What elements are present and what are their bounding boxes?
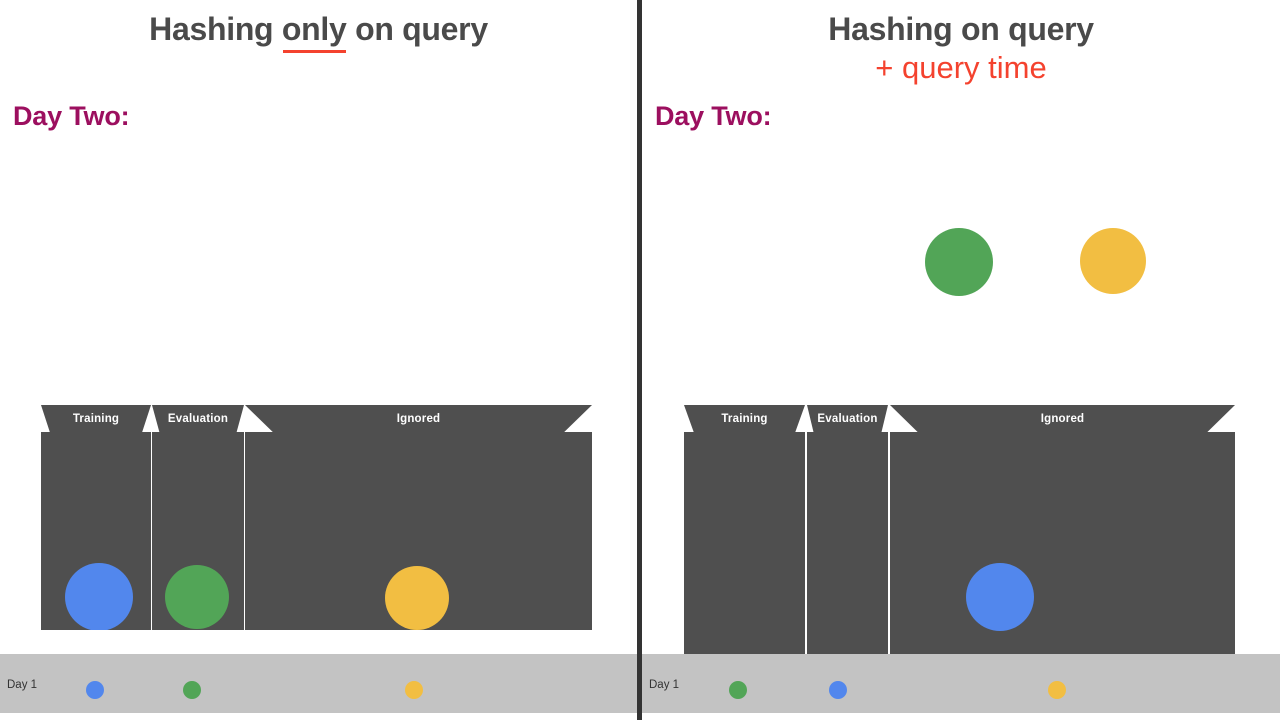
right-bin-body-ignored [890, 432, 1235, 658]
right-bin-body-evaluation [807, 432, 888, 658]
left-timeline-day-label: Day 1 [7, 679, 37, 691]
left-bin-training-ball-0 [65, 563, 133, 630]
right-floating-ball-1 [1080, 228, 1146, 294]
right-floating-ball-0 [925, 228, 993, 296]
left-bin-tab-training: Training [41, 405, 151, 432]
left-bin-body-evaluation [152, 432, 244, 630]
right-bin-ignored[interactable]: Ignored [890, 405, 1235, 658]
right-bin-ignored-ball-0 [966, 563, 1034, 631]
left-bin-tab-evaluation: Evaluation [152, 405, 244, 432]
right-bin-tab-ignored: Ignored [890, 405, 1235, 432]
left-bin-ignored[interactable]: Ignored [245, 405, 592, 630]
left-bin-body-training [41, 432, 151, 630]
left-title-underlined-word: only [282, 11, 347, 49]
left-bin-body-ignored [245, 432, 592, 630]
right-timeline-strip[interactable]: Day 1 [642, 654, 1280, 713]
right-panel-title: Hashing on query [642, 11, 1280, 48]
left-bin-training[interactable]: Training [41, 405, 151, 630]
left-timeline-dot-1 [183, 681, 201, 699]
right-bin-training[interactable]: Training [684, 405, 805, 658]
right-timeline-dot-2 [1048, 681, 1066, 699]
left-title-suffix: on query [347, 11, 488, 47]
left-bin-evaluation-ball-0 [165, 565, 229, 629]
right-panel: Hashing on query + query time Day Two: T… [642, 0, 1280, 720]
left-timeline-strip[interactable]: Day 1 [0, 654, 637, 713]
right-panel-subtitle: + query time [642, 50, 1280, 86]
left-bin-tab-ignored: Ignored [245, 405, 592, 432]
left-panel-title: Hashing only on query [0, 11, 637, 49]
left-bin-ignored-ball-0 [385, 566, 449, 630]
right-timeline-dot-1 [829, 681, 847, 699]
right-bin-body-training [684, 432, 805, 658]
right-bin-tab-training: Training [684, 405, 805, 432]
right-timeline-day-label: Day 1 [649, 679, 679, 691]
right-day-two-label: Day Two: [655, 101, 771, 132]
left-panel: Hashing only on query Day Two: TrainingE… [0, 0, 637, 720]
right-timeline-dot-0 [729, 681, 747, 699]
left-bin-evaluation[interactable]: Evaluation [152, 405, 244, 630]
slide-canvas: Hashing only on query Day Two: TrainingE… [0, 0, 1280, 720]
left-timeline-dot-2 [405, 681, 423, 699]
left-day-two-label: Day Two: [13, 101, 129, 132]
left-title-prefix: Hashing [149, 11, 282, 47]
right-bin-tab-evaluation: Evaluation [807, 405, 888, 432]
right-bin-evaluation[interactable]: Evaluation [807, 405, 888, 658]
left-timeline-dot-0 [86, 681, 104, 699]
